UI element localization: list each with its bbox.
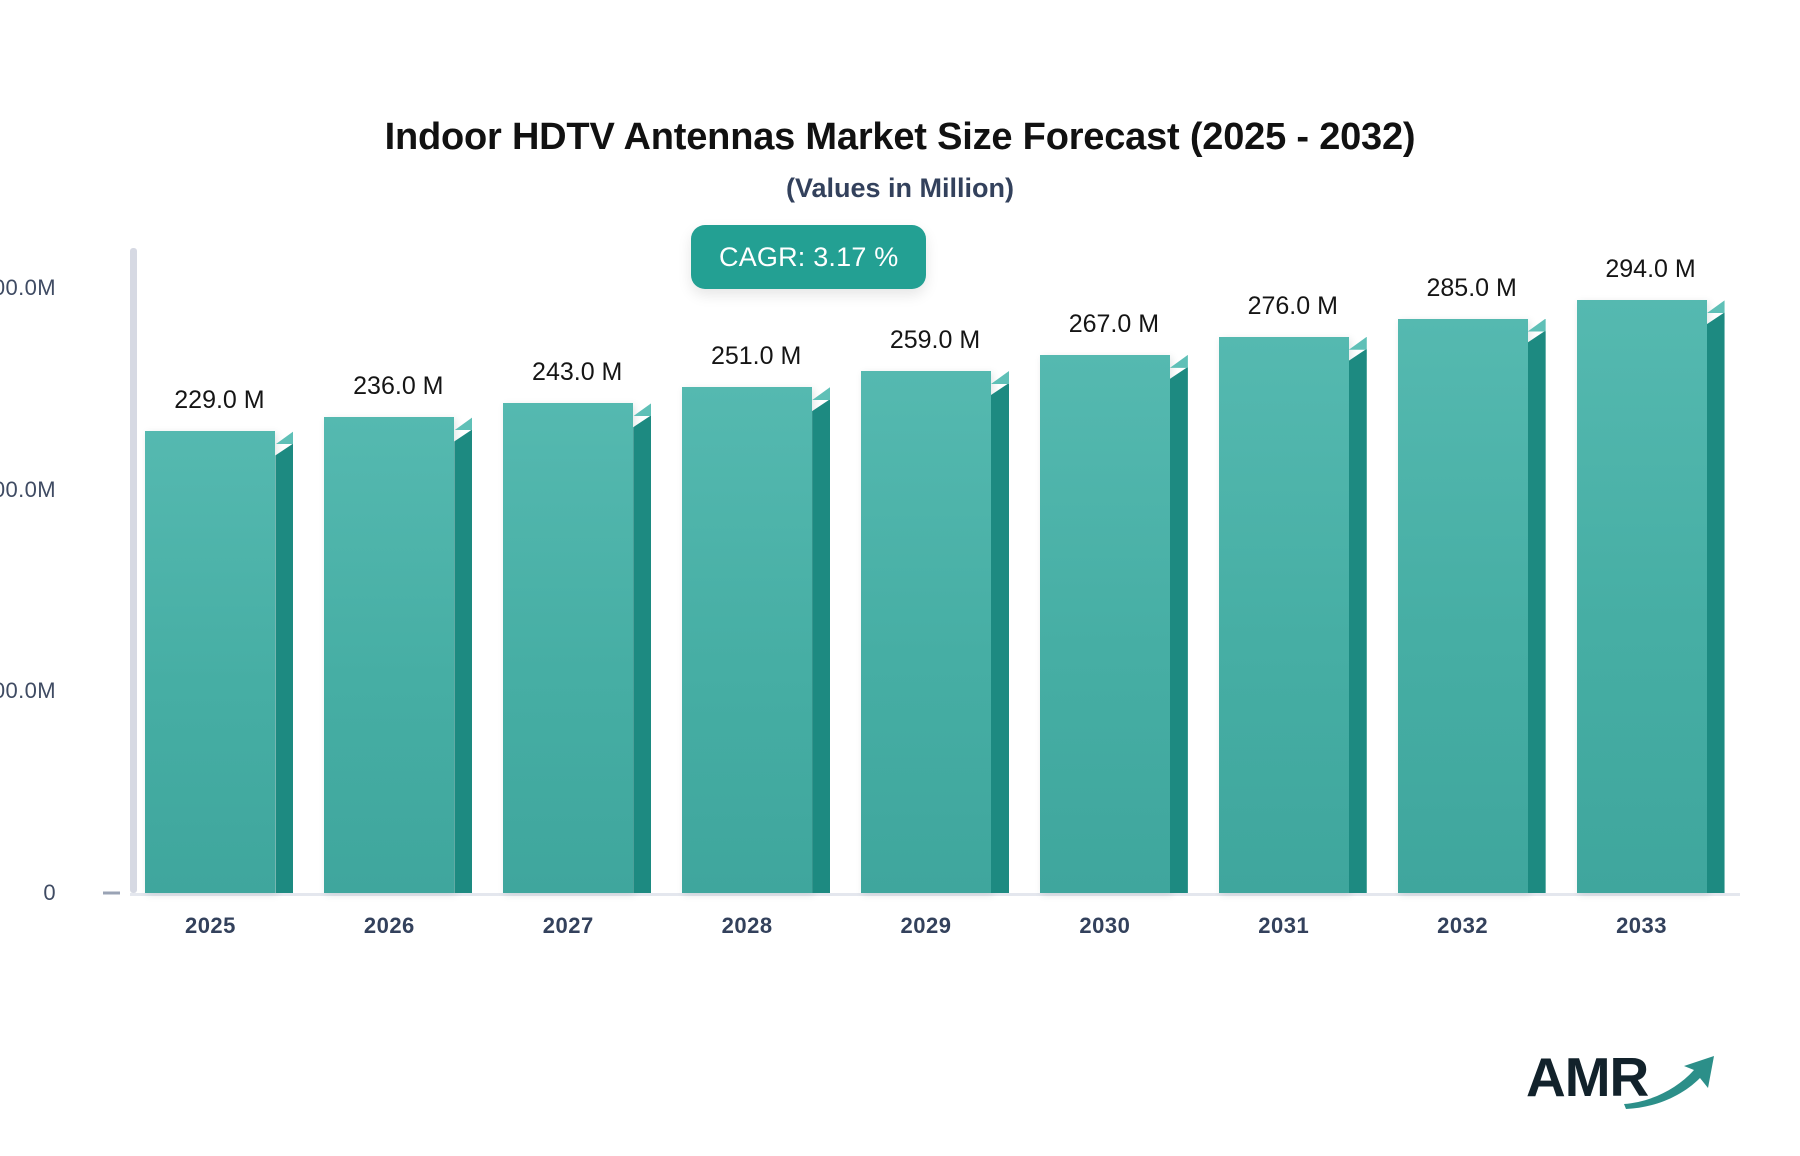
bar-front-face [1040,355,1170,893]
bar-top-face [275,431,293,444]
bar-column[interactable]: 285.0 M [1398,248,1546,893]
bar-value-label: 259.0 M [890,326,980,355]
x-axis-tick-label: 2029 [901,913,952,939]
bar-value-label: 294.0 M [1605,255,1695,284]
bar-front-face [682,387,812,893]
bar-top-face [454,417,472,430]
bar-column[interactable]: 276.0 M [1219,248,1367,893]
bar-column[interactable]: 243.0 M [503,248,651,893]
growth-arrow-icon [1622,1052,1718,1115]
bar-column[interactable]: 294.0 M [1577,248,1725,893]
bar-series: 229.0 M236.0 M243.0 M251.0 M259.0 M267.0… [130,248,1740,893]
bar-value-label: 236.0 M [353,372,443,401]
bar-top-face [633,403,651,416]
x-axis-tick-label: 2030 [1079,913,1130,939]
chart-canvas: Indoor HDTV Antennas Market Size Forecas… [0,0,1800,1156]
bar-side-face [1707,312,1725,893]
x-axis-tick-label: 2025 [185,913,236,939]
x-axis-tick-label: 2027 [543,913,594,939]
bar-2025[interactable] [145,431,293,893]
y-axis-tick-label: 0 [0,880,56,906]
bar-front-face [861,371,991,893]
x-axis-baseline [130,893,1740,896]
bar-front-face [145,431,275,893]
bar-2032[interactable] [1398,319,1546,893]
x-axis-tick-label: 2033 [1616,913,1667,939]
bar-column[interactable]: 236.0 M [324,248,472,893]
bar-front-face [1398,319,1528,893]
bar-side-face [991,383,1009,893]
bar-2030[interactable] [1040,355,1188,893]
bar-value-label: 285.0 M [1426,274,1516,303]
bar-top-face [1349,337,1367,350]
bar-2033[interactable] [1577,300,1725,893]
bar-side-face [633,415,651,893]
bar-2028[interactable] [682,387,830,893]
chart-subtitle: (Values in Million) [0,173,1800,204]
bar-side-face [275,443,293,893]
bar-side-face [1349,349,1367,893]
bar-top-face [1528,319,1546,332]
bar-value-label: 251.0 M [711,342,801,371]
bar-column[interactable]: 267.0 M [1040,248,1188,893]
bar-top-face [1170,355,1188,368]
bar-2027[interactable] [503,403,651,893]
cagr-badge: CAGR: 3.17 % [691,225,926,289]
bar-front-face [503,403,633,893]
bar-2026[interactable] [324,417,472,893]
bar-front-face [1577,300,1707,893]
amr-logo: AMR [1526,1040,1718,1115]
bar-top-face [812,387,830,400]
bar-2031[interactable] [1219,337,1367,893]
y-axis-tick-label: 100.0M [0,678,56,704]
x-axis-tick-label: 2031 [1258,913,1309,939]
bar-column[interactable]: 229.0 M [145,248,293,893]
y-axis-tick-label: 200.0M [0,477,56,503]
y-axis-zero-tick-mark [103,892,120,895]
bar-value-label: 267.0 M [1069,310,1159,339]
x-axis-tick-label: 2032 [1437,913,1488,939]
bar-2029[interactable] [861,371,1009,893]
bar-front-face [324,417,454,893]
bar-side-face [1528,331,1546,893]
bar-front-face [1219,337,1349,893]
chart-title: Indoor HDTV Antennas Market Size Forecas… [0,116,1800,159]
bar-side-face [1170,367,1188,893]
bar-column[interactable]: 259.0 M [861,248,1009,893]
bar-top-face [991,371,1009,384]
bar-side-face [812,399,830,893]
x-axis-tick-label: 2028 [722,913,773,939]
bar-value-label: 243.0 M [532,358,622,387]
bar-column[interactable]: 251.0 M [682,248,830,893]
bar-side-face [454,429,472,893]
bar-top-face [1707,300,1725,313]
bar-value-label: 229.0 M [174,386,264,415]
y-axis-tick-label: 300.0M [0,275,56,301]
plot-area: 300.0M200.0M100.0M0 229.0 M236.0 M243.0 … [130,248,1740,893]
bar-value-label: 276.0 M [1248,292,1338,321]
x-axis-tick-label: 2026 [364,913,415,939]
